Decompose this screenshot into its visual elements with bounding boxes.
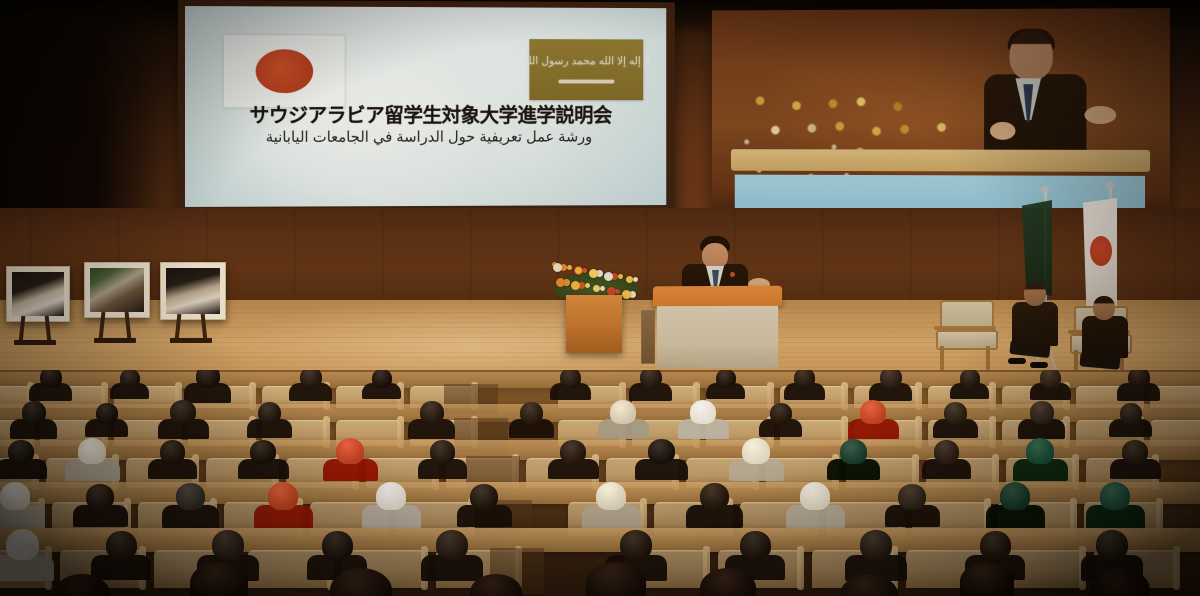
audience-head-row2-9	[840, 439, 867, 464]
audience-head-row1-4	[420, 401, 444, 424]
audience-head-row1-1	[96, 403, 118, 424]
painting-flower-2	[829, 99, 838, 108]
main-projection-screen: لا إله إلا الله محمد رسول الله サウジアラビア留学…	[178, 0, 675, 222]
portrait-easel-one	[6, 266, 72, 344]
stage-band-seam-9	[822, 210, 823, 306]
stage-band-seam-4	[382, 210, 383, 306]
audience-head-row0-2	[196, 370, 220, 388]
audience-head-row1-7	[690, 400, 716, 424]
dignitary-left-head	[1024, 282, 1046, 306]
audience-head-row0-11	[1040, 370, 1061, 388]
seating-deck-4	[0, 528, 1200, 552]
bouquet-bloom-6	[618, 274, 623, 279]
audience-head-row2-3	[250, 440, 276, 464]
screen-surface: لا إله إلا الله محمد رسول الله サウジアラビア留学…	[185, 6, 666, 207]
feed-speaker-hand-left	[990, 122, 1016, 140]
podium-front-panel	[657, 306, 778, 368]
seat-divider-row4-8	[797, 546, 804, 590]
audience-head-row1-6	[610, 400, 636, 424]
japan-flag-icon	[223, 34, 346, 108]
audience-head-row3-8	[800, 482, 830, 510]
audience-head-row3-10	[1000, 482, 1030, 510]
japan-flag-disc	[256, 49, 313, 93]
stage-band-seam-7	[646, 210, 647, 306]
audience-head-row3-9	[898, 484, 926, 510]
stage-band-seam-3	[294, 210, 295, 306]
audience-head-row4-0	[6, 529, 39, 560]
stage-band-seam-11	[998, 210, 999, 306]
painting-flower-7	[835, 122, 844, 131]
painting-flower-10	[937, 123, 946, 132]
flower-pedestal	[566, 295, 622, 353]
painting-flower-0	[756, 96, 765, 105]
dignitary-left-shoe-a	[1008, 358, 1026, 364]
speaker-podium	[653, 286, 782, 369]
painting-flower-8	[872, 127, 881, 136]
portrait-image-two	[90, 268, 144, 312]
saudi-flag-shahada: لا إله إلا الله محمد رسول الله	[523, 55, 650, 68]
audience-head-row0-12	[1128, 370, 1150, 388]
audience-head-row2-12	[1122, 440, 1148, 464]
easel-base-three	[170, 338, 212, 343]
bouquet-bloom-23	[553, 263, 562, 272]
audience-head-row3-2	[176, 483, 205, 510]
portrait-frame-one	[6, 266, 70, 322]
presenter-lapel-pin	[730, 272, 735, 277]
secondary-projection-screen	[712, 8, 1170, 220]
bouquet-bloom-3	[585, 283, 590, 288]
audience-head-row0-10	[960, 370, 980, 388]
easel-base-one	[14, 340, 56, 345]
audience-head-row0-5	[560, 370, 581, 388]
audience-head-row3-11	[1100, 482, 1130, 510]
seat-divider-row4-12	[1173, 546, 1180, 590]
bouquet-bloom-14	[622, 290, 631, 299]
dignitary-left-suit	[1012, 302, 1058, 346]
presentation-slide: لا إله إلا الله محمد رسول الله サウジアラビア留学…	[185, 6, 666, 207]
audience-foreground-head-6	[960, 562, 1014, 596]
auditorium-seating	[0, 370, 1200, 596]
audience-head-row4-9	[1096, 530, 1128, 560]
seated-dignitary-left	[1008, 282, 1064, 378]
audience-head-row0-9	[880, 370, 902, 388]
dignitary-left-legs	[1009, 340, 1050, 358]
audience-head-row2-2	[160, 440, 185, 464]
stage-band-seam-10	[910, 210, 911, 306]
feed-speaker-hand-right	[1085, 106, 1117, 124]
painting-accent-0	[744, 139, 749, 144]
audience-head-row3-1	[86, 484, 114, 510]
audience-head-row1-8	[770, 403, 792, 424]
audience-head-row0-6	[640, 370, 662, 388]
chair-arm-left	[934, 326, 996, 330]
stage-band-seam-13	[1174, 210, 1175, 306]
audience-head-row1-12	[1120, 403, 1142, 424]
bouquet-bloom-22	[626, 276, 633, 283]
stage-chair-left	[934, 300, 996, 376]
saudi-flag-sword	[558, 79, 614, 83]
audience-head-row2-10	[934, 440, 959, 464]
bouquet-bloom-9	[567, 265, 572, 270]
saudi-arabia-flag-icon: لا إله إلا الله محمد رسول الله	[529, 39, 643, 100]
slide-subtitle-arabic: ورشة عمل تعريفية حول الدراسة في الجامعات…	[201, 130, 655, 147]
audience-head-row4-4	[436, 530, 468, 560]
audience-head-row0-8	[794, 370, 815, 388]
audience-head-row1-11	[1030, 401, 1054, 424]
audience-head-row1-5	[520, 402, 543, 424]
bouquet-bloom-21	[615, 289, 620, 294]
audience-head-row0-7	[716, 370, 736, 388]
bouquet-bloom-20	[604, 272, 613, 281]
bouquet-bloom-25	[575, 267, 582, 274]
audience-head-row3-4	[376, 482, 406, 510]
portrait-frame-two	[84, 262, 150, 318]
audience-head-row3-7	[700, 483, 729, 510]
portrait-image-three	[166, 268, 220, 314]
bouquet-bloom-12	[600, 286, 605, 291]
audience-head-row3-5	[470, 484, 498, 510]
audience-head-row1-9	[860, 400, 886, 424]
portrait-easel-three	[160, 262, 226, 342]
painting-flower-4	[893, 102, 902, 111]
audience-head-row2-0	[8, 440, 34, 464]
bouquet-bloom-19	[593, 285, 600, 292]
portrait-easel-two	[84, 262, 150, 342]
audience-head-row2-7	[648, 439, 675, 464]
dignitary-right-legs	[1079, 352, 1120, 369]
audience-head-row3-6	[596, 482, 626, 510]
portrait-image-one	[12, 272, 64, 316]
auditorium-photo: لا إله إلا الله محمد رسول الله サウジアラビア留学…	[0, 0, 1200, 596]
audience-head-row4-5	[620, 530, 652, 560]
dignitary-left-shoe-b	[1030, 362, 1048, 368]
portrait-frame-three	[160, 262, 226, 320]
audience-head-row1-3	[258, 402, 281, 424]
audience-head-row2-1	[78, 438, 106, 464]
audience-head-row1-10	[944, 402, 967, 424]
audience-head-row4-7	[860, 530, 892, 560]
podium-side-panel	[641, 310, 655, 364]
audience-head-row0-1	[120, 370, 140, 388]
painting-flower-5	[771, 126, 780, 135]
audience-head-row2-5	[430, 440, 455, 464]
easel-base-two	[94, 338, 136, 343]
bouquet-bloom-15	[633, 277, 638, 282]
bouquet-bloom-11	[589, 269, 598, 278]
presenter-head	[702, 243, 728, 269]
slide-title-japanese: サウジアラビア留学生対象大学進学説明会	[201, 106, 659, 126]
bouquet-bloom-17	[571, 281, 580, 290]
feed-speaker-head	[1010, 31, 1053, 81]
audience-head-row2-6	[560, 440, 586, 464]
wall-seam-1	[138, 0, 139, 210]
audience-head-row0-0	[40, 370, 62, 388]
painting-flower-1	[792, 101, 801, 110]
podium-top-band	[653, 286, 782, 307]
stage-band-seam-5	[470, 210, 471, 306]
audience-head-row0-4	[372, 370, 392, 388]
painting-flower-6	[808, 124, 817, 133]
audience-head-row3-3	[268, 482, 298, 510]
japan-flag-stage-disc	[1090, 236, 1112, 266]
dignitary-right-head	[1093, 296, 1115, 320]
bouquet-bloom-18	[582, 268, 587, 273]
audience-head-row3-0	[0, 482, 30, 510]
bouquet-bloom-24	[564, 280, 569, 285]
wall-seam-0	[40, 0, 41, 210]
audience-head-row2-4	[336, 438, 364, 464]
audience-head-row1-0	[22, 401, 46, 424]
audience-head-row0-3	[300, 370, 322, 388]
feed-lectern-top	[731, 149, 1150, 172]
feed-speaker-figure	[965, 30, 1113, 160]
painting-flower-9	[900, 125, 909, 134]
audience-head-row4-1	[106, 531, 137, 560]
audience-head-row4-2	[212, 530, 244, 560]
audience-foreground-head-0	[190, 562, 248, 596]
audience-head-row2-8	[742, 438, 770, 464]
painting-flower-3	[857, 97, 866, 106]
audience-head-row4-3	[322, 531, 353, 560]
audience-head-row2-11	[1026, 438, 1054, 464]
audience-head-row4-6	[740, 531, 771, 560]
audience-head-row4-8	[980, 531, 1011, 560]
feed-surface	[712, 8, 1170, 220]
dignitary-right-suit	[1082, 316, 1128, 358]
audience-head-row1-2	[170, 400, 196, 424]
